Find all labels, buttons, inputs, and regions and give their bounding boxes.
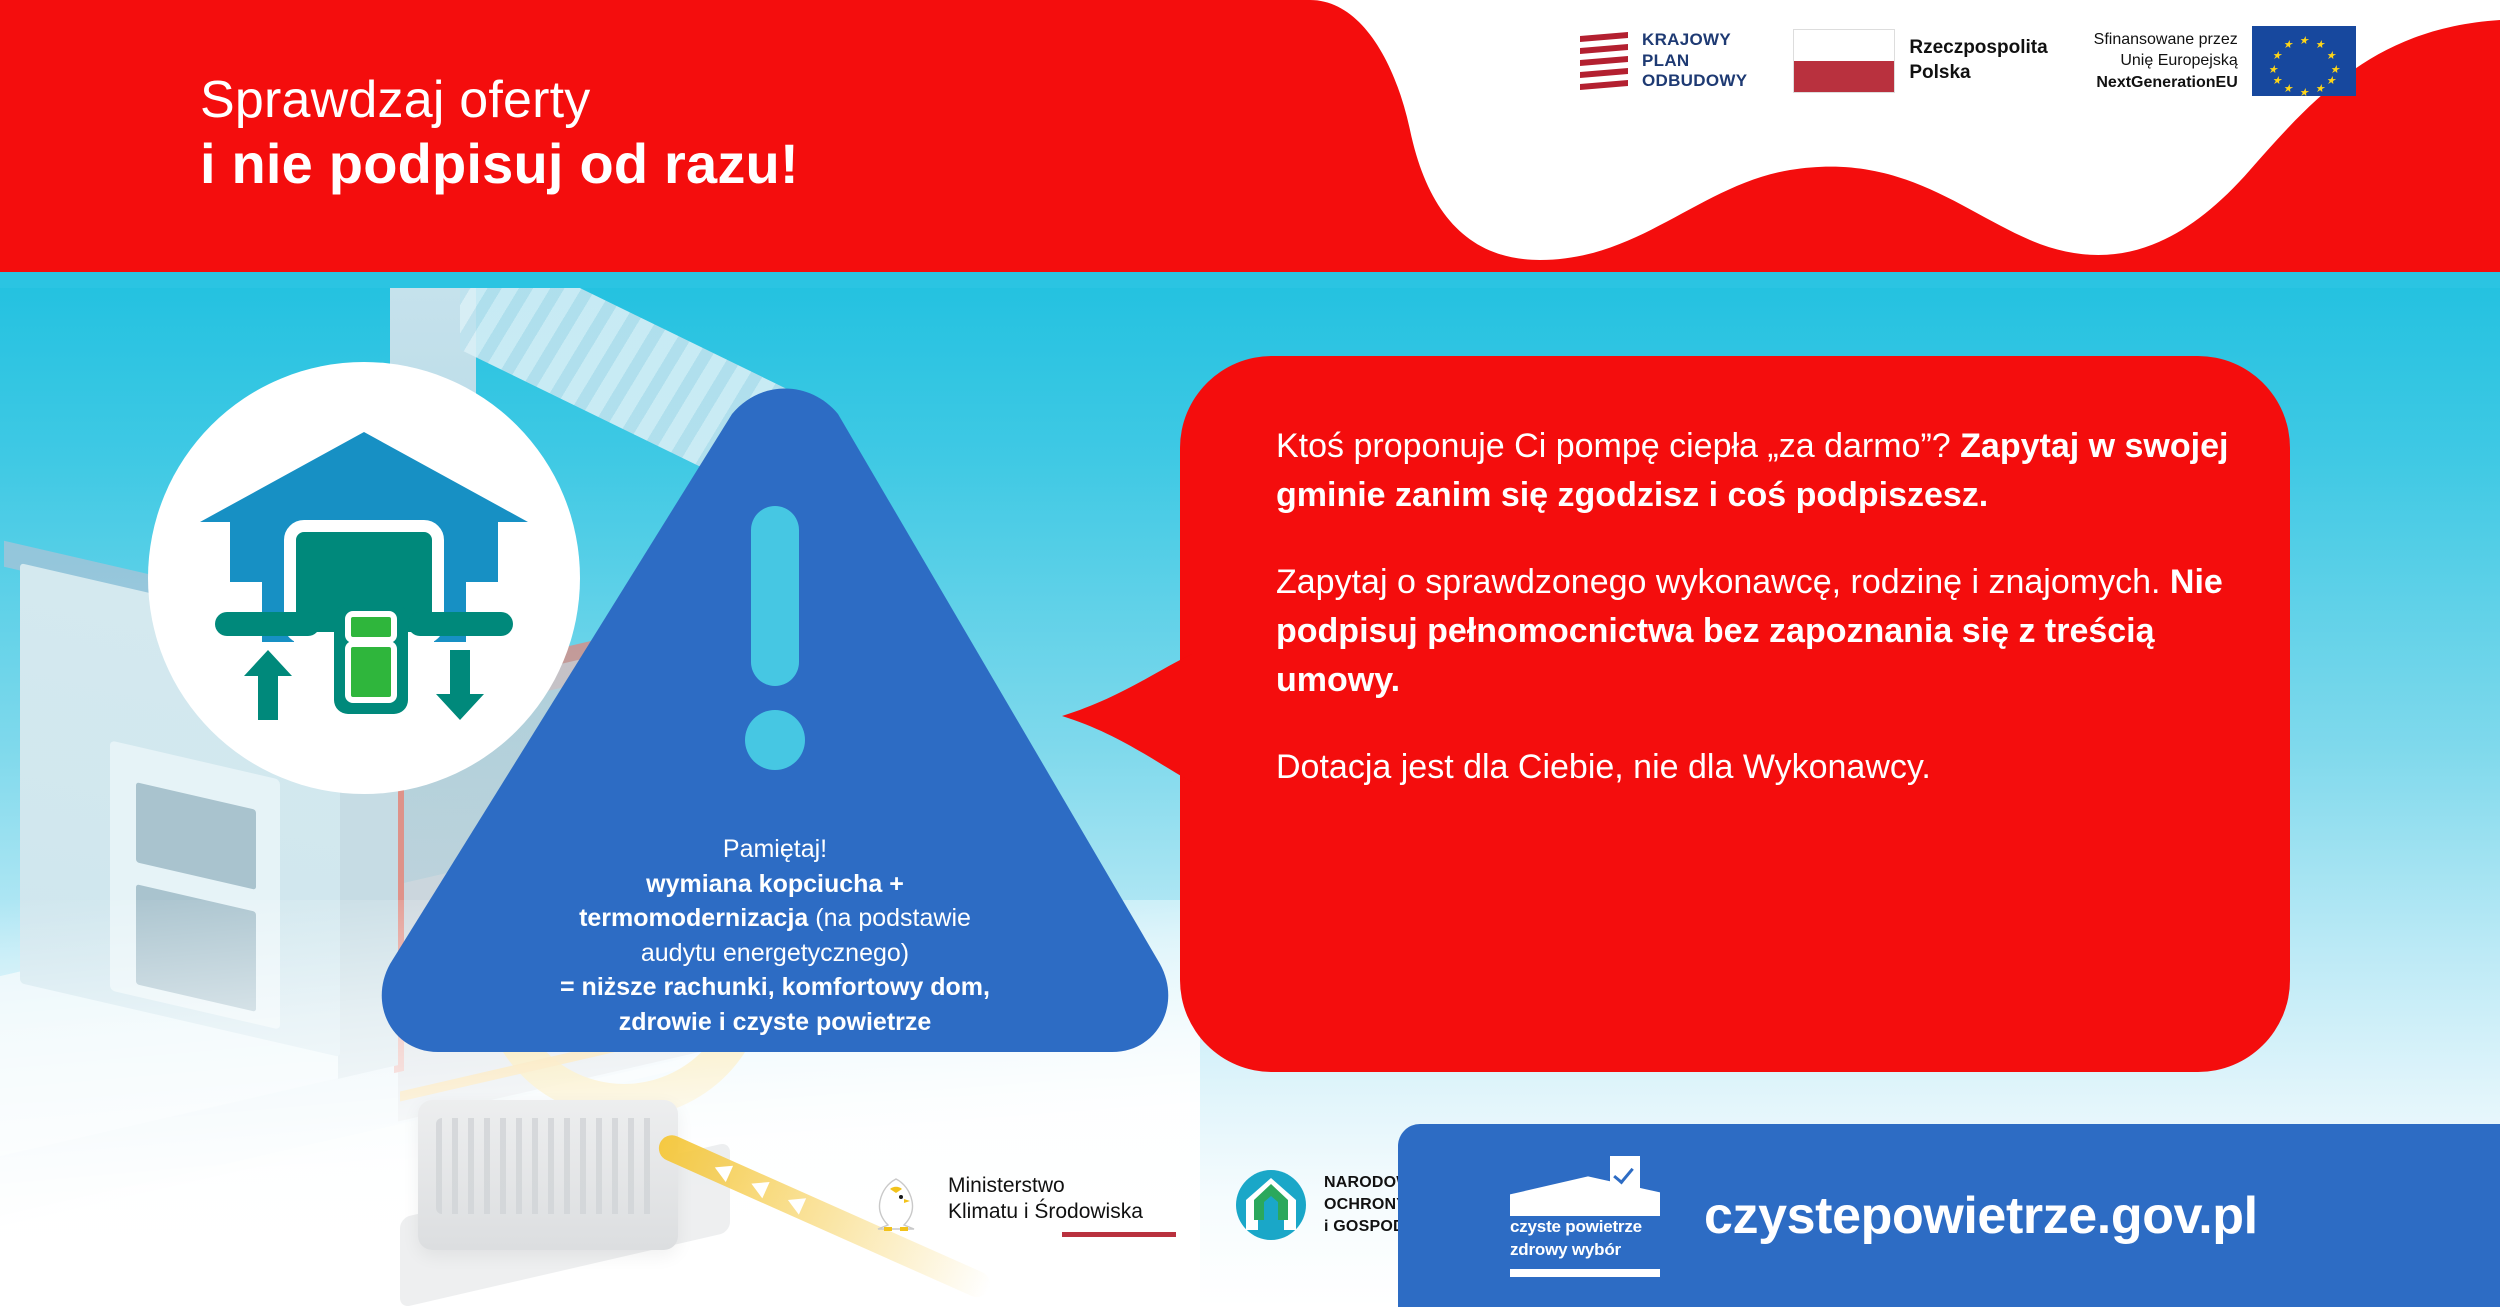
kpo-logo-text: KRAJOWY PLAN ODBUDOWY: [1642, 30, 1747, 92]
kpo-line-1: KRAJOWY: [1642, 30, 1747, 51]
triangle-line-1: Pamiętaj!: [370, 832, 1180, 867]
logo-european-union: Sfinansowane przez Unię Europejską NextG…: [2094, 26, 2356, 96]
ministry-line-2: Klimatu i Środowiska: [948, 1199, 1176, 1225]
bubble-paragraph-1: Ktoś proponuje Ci pompę ciepła „za darmo…: [1276, 422, 2236, 520]
warning-triangle: Pamiętaj! wymiana kopciucha + termomoder…: [370, 388, 1180, 1060]
heat-pump-unit: [418, 1100, 678, 1250]
page-title: Sprawdzaj oferty i nie podpisuj od razu!: [200, 70, 799, 197]
logo-ministerstwo-klimatu: Ministerstwo Klimatu i Środowiska: [860, 1169, 1176, 1241]
polish-flag-icon: [1793, 29, 1895, 93]
website-url[interactable]: czystepowietrze.gov.pl: [1704, 1186, 2258, 1246]
badge-line-1: czyste powietrze: [1510, 1216, 1666, 1238]
badge-line-2: zdrowy wybór: [1510, 1239, 1666, 1261]
bubble-p1-plain: Ktoś proponuje Ci pompę ciepła „za darmo…: [1276, 427, 1960, 465]
eu-line-2: Unię Europejską: [2094, 50, 2238, 72]
logo-rzeczpospolita-polska: Rzeczpospolita Polska: [1793, 29, 2047, 93]
triangle-line-3-bold: termomodernizacja: [579, 904, 808, 932]
rp-logo-text: Rzeczpospolita Polska: [1909, 36, 2047, 85]
logo-krajowy-plan-odbudowy: KRAJOWY PLAN ODBUDOWY: [1580, 30, 1747, 92]
ministry-logo-text: Ministerstwo Klimatu i Środowiska: [948, 1173, 1176, 1236]
bubble-tail-shape: [1062, 654, 1192, 784]
kpo-mark-icon: [1580, 32, 1628, 90]
eu-line-1: Sfinansowane przez: [2094, 29, 2238, 51]
triangle-line-6: zdrowie i czyste powietrze: [619, 1008, 932, 1036]
ministry-line-1: Ministerstwo: [948, 1173, 1176, 1199]
bubble-tail: [1062, 654, 1192, 784]
triangle-line-2: wymiana kopciucha +: [646, 870, 904, 898]
eu-line-3: NextGenerationEU: [2096, 74, 2237, 91]
triangle-line-3-rest: (na podstawie: [808, 904, 971, 932]
headline-line-2: i nie podpisuj od razu!: [200, 131, 799, 197]
house-check-icon: [1510, 1154, 1666, 1216]
poster-canvas: Sprawdzaj oferty i nie podpisuj od razu!…: [0, 0, 2500, 1307]
cyan-divider: [0, 272, 2500, 288]
top-logo-row: KRAJOWY PLAN ODBUDOWY Rzeczpospolita Pol…: [1580, 26, 2356, 96]
polish-eagle-icon: [860, 1169, 932, 1241]
bubble-paragraph-2: Zapytaj o sprawdzonego wykonawcę, rodzin…: [1276, 558, 2236, 705]
rp-line-1: Rzeczpospolita: [1909, 36, 2047, 61]
ministry-rule-divider: [948, 1232, 1176, 1237]
nfosigw-mark-icon: [1234, 1168, 1308, 1242]
bubble-p2-plain: Zapytaj o sprawdzonego wykonawcę, rodzin…: [1276, 563, 2170, 601]
triangle-line-5: = niższe rachunki, komfortowy dom,: [560, 973, 990, 1001]
advice-speech-bubble: Ktoś proponuje Ci pompę ciepła „za darmo…: [1180, 356, 2290, 1072]
badge-underline: [1510, 1269, 1660, 1277]
triangle-text: Pamiętaj! wymiana kopciucha + termomoder…: [370, 832, 1180, 1060]
headline-line-1: Sprawdzaj oferty: [200, 70, 799, 131]
eu-flag-icon: ★★★ ★★★ ★★★ ★★★: [2252, 26, 2356, 96]
kpo-line-3: ODBUDOWY: [1642, 71, 1747, 92]
czyste-powietrze-badge: czyste powietrze zdrowy wybór: [1510, 1154, 1666, 1276]
bubble-paragraph-3: Dotacja jest dla Ciebie, nie dla Wykonaw…: [1276, 743, 2236, 792]
eu-logo-text: Sfinansowane przez Unię Europejską NextG…: [2094, 29, 2238, 94]
triangle-line-4: audytu energetycznego): [370, 936, 1180, 971]
bubble-text: Ktoś proponuje Ci pompę ciepła „za darmo…: [1276, 422, 2236, 792]
kpo-line-2: PLAN: [1642, 51, 1747, 72]
rp-line-2: Polska: [1909, 61, 2047, 86]
footer-bar: czyste powietrze zdrowy wybór czystepowi…: [1398, 1124, 2500, 1307]
